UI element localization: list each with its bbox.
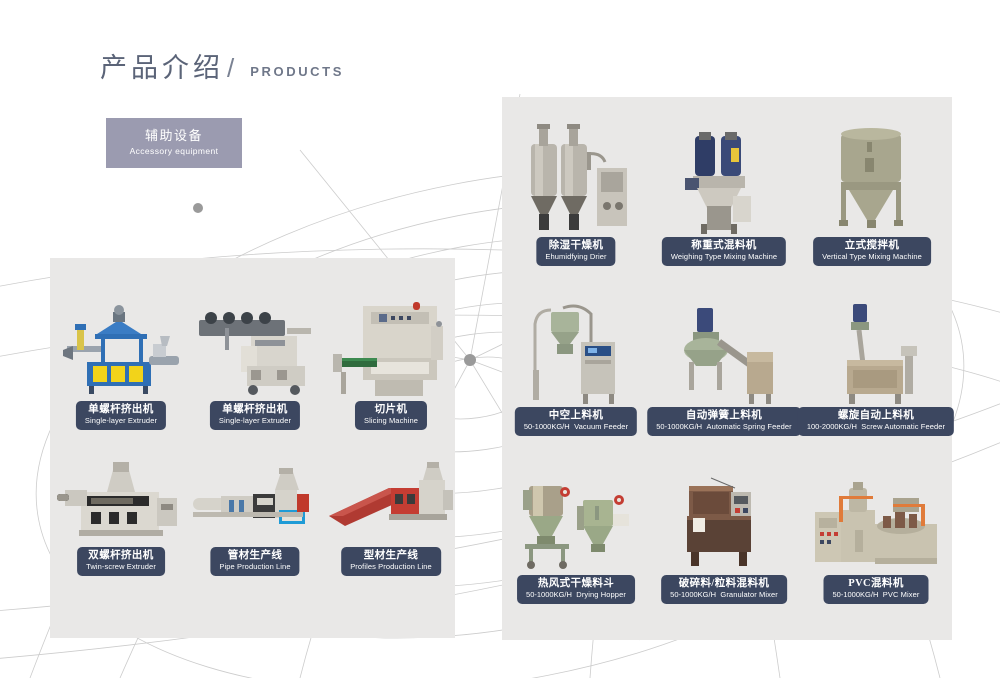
product-label: 单螺杆挤出机 Single-layer Extruder <box>210 401 300 430</box>
product-cell-automatic-spring-feeder[interactable]: 自动弹簧上料机 50-1000KG/H Automatic Spring Fee… <box>660 296 788 436</box>
product-cell-vertical-mixing-machine[interactable]: 立式搅拌机 Vertical Type Mixing Machine <box>808 118 936 266</box>
product-spec: 50-1000KG/H <box>670 590 716 599</box>
product-label-en: Single-layer Extruder <box>85 416 157 426</box>
pipe-production-line-icon <box>190 452 320 546</box>
product-label: 切片机 Slicing Machine <box>355 401 427 430</box>
vacuum-feeder-icon <box>512 296 640 406</box>
product-cell-twin-screw-extruder[interactable]: 双螺杆挤出机 Twin-screw Extruder <box>56 452 186 576</box>
product-label-en: 50-1000KG/H Automatic Spring Feeder <box>656 422 792 432</box>
single-screw-extruder-blue-icon <box>56 296 186 400</box>
product-cell-single-layer-extruder-2[interactable]: 单螺杆挤出机 Single-layer Extruder <box>190 296 320 430</box>
product-label-en: 50-1000KG/H Drying Hopper <box>526 590 626 600</box>
product-spec: 50-1000KG/H <box>656 422 702 431</box>
page-title-cn: 产品介绍 <box>100 46 224 85</box>
product-label: 破碎料/粒料混料机 50-1000KG/H Granulator Mixer <box>661 575 787 604</box>
product-label-cn: PVC混料机 <box>833 578 920 590</box>
drying-hopper-icon <box>512 468 640 574</box>
product-label-cn: 单螺杆挤出机 <box>85 404 157 416</box>
product-label-en-text: Screw Automatic Feeder <box>861 422 945 431</box>
product-label: 中空上料机 50-1000KG/H Vacuum Feeder <box>515 407 637 436</box>
granulator-mixer-icon <box>660 468 788 574</box>
product-label: 管材生产线 Pipe Production Line <box>210 547 299 576</box>
page-title: 产品介绍 / PRODUCTS <box>100 46 344 85</box>
product-label-cn: 自动弹簧上料机 <box>656 410 792 422</box>
product-label: 单螺杆挤出机 Single-layer Extruder <box>76 401 166 430</box>
product-label-cn: 单螺杆挤出机 <box>219 404 291 416</box>
vertical-mixing-machine-icon <box>808 118 936 236</box>
product-label-en-text: Vacuum Feeder <box>574 422 628 431</box>
product-cell-profiles-production-line[interactable]: 型材生产线 Profiles Production Line <box>326 452 456 576</box>
product-label-en: 50-1000KG/H Vacuum Feeder <box>524 422 628 432</box>
page-title-en: PRODUCTS <box>250 64 344 79</box>
product-label-en: Vertical Type Mixing Machine <box>822 252 922 262</box>
accessory-badge-en: Accessory equipment <box>130 144 219 158</box>
automatic-spring-feeder-icon <box>660 296 788 406</box>
product-label-cn: 中空上料机 <box>524 410 628 422</box>
product-cell-screw-automatic-feeder[interactable]: 螺旋自动上料机 100-2000KG/H Screw Automatic Fee… <box>808 296 944 436</box>
product-cell-granulator-mixer[interactable]: 破碎料/粒料混料机 50-1000KG/H Granulator Mixer <box>660 468 788 604</box>
product-label-en-text: Automatic Spring Feeder <box>706 422 791 431</box>
product-label: 除湿干燥机 Ehumidfying Drier <box>536 237 615 266</box>
accessory-badge-cn: 辅助设备 <box>145 128 203 144</box>
product-label: 热风式干燥料斗 50-1000KG/H Drying Hopper <box>517 575 635 604</box>
twin-screw-extruder-icon <box>56 452 186 546</box>
product-label-cn: 除湿干燥机 <box>545 240 606 252</box>
product-cell-pipe-production-line[interactable]: 管材生产线 Pipe Production Line <box>190 452 320 576</box>
product-label-en-text: Drying Hopper <box>576 590 626 599</box>
product-label-en: 50-1000KG/H PVC Mixer <box>833 590 920 600</box>
product-label-en: 100-2000KG/H Screw Automatic Feeder <box>807 422 945 432</box>
product-spec: 50-1000KG/H <box>833 590 879 599</box>
profiles-production-line-icon <box>326 452 456 546</box>
product-cell-drying-hopper[interactable]: 热风式干燥料斗 50-1000KG/H Drying Hopper <box>512 468 640 604</box>
accessory-equipment-badge: 辅助设备 Accessory equipment <box>106 118 242 168</box>
product-label-cn: 型材生产线 <box>350 550 432 562</box>
product-cell-pvc-mixer[interactable]: PVC混料机 50-1000KG/H PVC Mixer <box>806 468 946 604</box>
product-cell-weighing-mixing-machine[interactable]: 称重式混料机 Weighing Type Mixing Machine <box>660 118 788 266</box>
screw-automatic-feeder-icon <box>808 296 944 406</box>
dehumidifying-drier-icon <box>512 118 640 236</box>
product-label-en: 50-1000KG/H Granulator Mixer <box>670 590 778 600</box>
product-label-en: Pipe Production Line <box>219 562 290 572</box>
product-label-cn: 称重式混料机 <box>671 240 777 252</box>
page-title-slash: / <box>227 53 234 84</box>
product-label-en: Profiles Production Line <box>350 562 432 572</box>
product-catalog-page: 产品介绍 / PRODUCTS 辅助设备 Accessory equipment <box>0 0 1000 678</box>
product-label-en-text: PVC Mixer <box>883 590 920 599</box>
product-label-en: Slicing Machine <box>364 416 418 426</box>
product-cell-single-layer-extruder-1[interactable]: 单螺杆挤出机 Single-layer Extruder <box>56 296 186 430</box>
product-label: 自动弹簧上料机 50-1000KG/H Automatic Spring Fee… <box>647 407 801 436</box>
product-label-cn: 螺旋自动上料机 <box>807 410 945 422</box>
product-cell-dehumidifying-drier[interactable]: 除湿干燥机 Ehumidfying Drier <box>512 118 640 266</box>
product-spec: 50-1000KG/H <box>524 422 570 431</box>
product-cell-vacuum-feeder[interactable]: 中空上料机 50-1000KG/H Vacuum Feeder <box>512 296 640 436</box>
product-label-en: Ehumidfying Drier <box>545 252 606 262</box>
product-label: 称重式混料机 Weighing Type Mixing Machine <box>662 237 786 266</box>
product-label-en: Single-layer Extruder <box>219 416 291 426</box>
product-cell-slicing-machine[interactable]: 切片机 Slicing Machine <box>326 296 456 430</box>
product-label-en: Twin-screw Extruder <box>86 562 156 572</box>
product-label: 型材生产线 Profiles Production Line <box>341 547 441 576</box>
product-label-cn: 双螺杆挤出机 <box>86 550 156 562</box>
slicing-machine-icon <box>326 296 456 400</box>
pvc-mixer-icon <box>806 468 946 574</box>
product-spec: 100-2000KG/H <box>807 422 857 431</box>
product-label-cn: 立式搅拌机 <box>822 240 922 252</box>
product-label-cn: 切片机 <box>364 404 418 416</box>
single-screw-extruder-roller-icon <box>190 296 320 400</box>
product-label-cn: 热风式干燥料斗 <box>526 578 626 590</box>
weighing-mixing-machine-icon <box>660 118 788 236</box>
product-label-en-text: Granulator Mixer <box>720 590 777 599</box>
product-label: PVC混料机 50-1000KG/H PVC Mixer <box>824 575 929 604</box>
product-label-cn: 管材生产线 <box>219 550 290 562</box>
product-label: 双螺杆挤出机 Twin-screw Extruder <box>77 547 165 576</box>
product-label: 立式搅拌机 Vertical Type Mixing Machine <box>813 237 931 266</box>
product-label-cn: 破碎料/粒料混料机 <box>670 578 778 590</box>
product-label-en: Weighing Type Mixing Machine <box>671 252 777 262</box>
product-spec: 50-1000KG/H <box>526 590 572 599</box>
product-label: 螺旋自动上料机 100-2000KG/H Screw Automatic Fee… <box>798 407 954 436</box>
